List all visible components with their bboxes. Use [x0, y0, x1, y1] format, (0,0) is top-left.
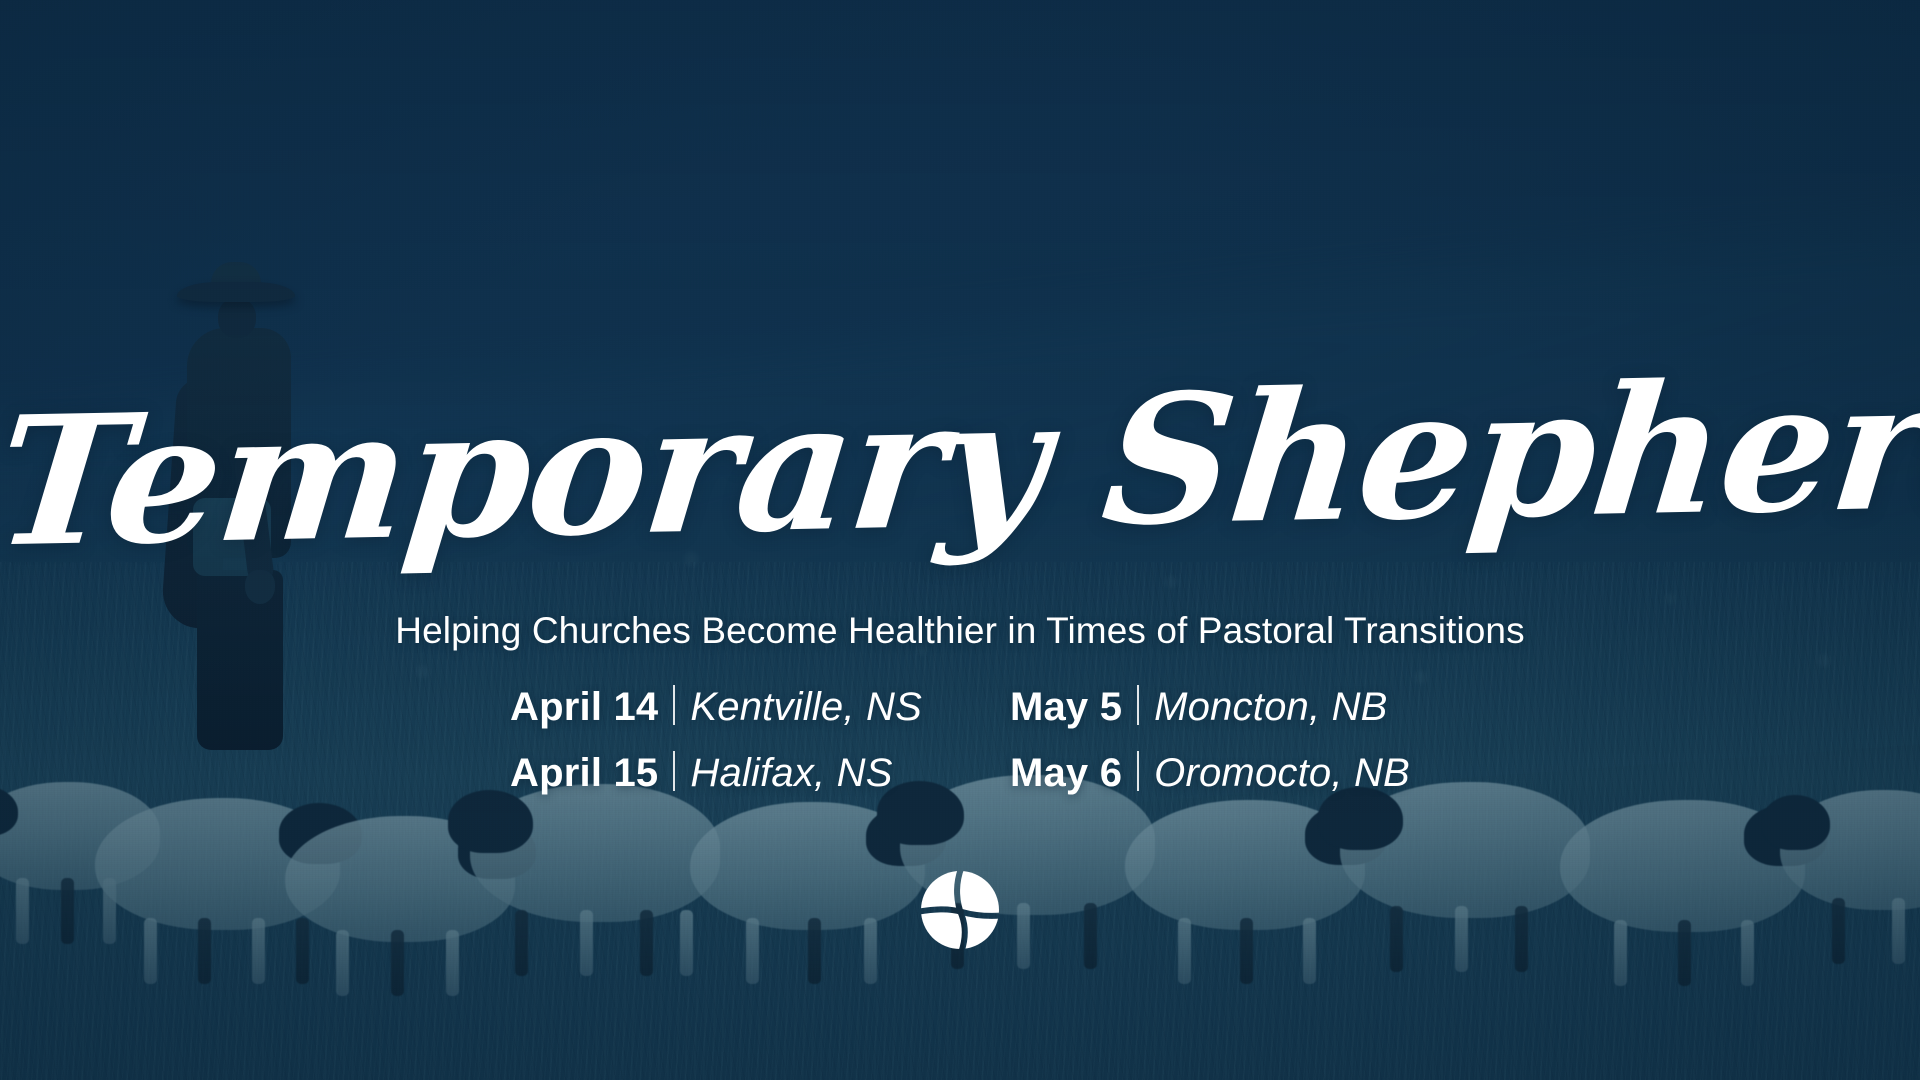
event-date: April 15 — [510, 751, 658, 796]
event-separator — [1137, 685, 1139, 725]
event-location: Halifax, NS — [690, 751, 892, 796]
event-row: May 6 Oromocto, NB — [1010, 746, 1410, 796]
event-separator — [673, 751, 675, 791]
event-column-left: April 14 Kentville, NS April 15 Halifax,… — [510, 680, 922, 796]
poster-subtitle: Helping Churches Become Healthier in Tim… — [0, 610, 1920, 652]
event-date: May 6 — [1010, 751, 1122, 796]
event-row: April 15 Halifax, NS — [510, 746, 922, 796]
event-location: Oromocto, NB — [1154, 751, 1410, 796]
event-dates-list: April 14 Kentville, NS April 15 Halifax,… — [0, 680, 1920, 796]
event-separator — [1137, 751, 1139, 791]
event-row: May 5 Moncton, NB — [1010, 680, 1410, 730]
event-location: Kentville, NS — [690, 685, 922, 730]
event-separator — [673, 685, 675, 725]
poster-canvas: Temporary Shepherds Helping Churches Bec… — [0, 0, 1920, 1080]
event-date: April 14 — [510, 685, 658, 730]
globe-cross-logo-icon — [918, 868, 1002, 952]
event-column-right: May 5 Moncton, NB May 6 Oromocto, NB — [1010, 680, 1410, 796]
event-date: May 5 — [1010, 685, 1122, 730]
event-row: April 14 Kentville, NS — [510, 680, 922, 730]
poster-title: Temporary Shepherds — [0, 355, 1920, 573]
event-location: Moncton, NB — [1154, 685, 1387, 730]
